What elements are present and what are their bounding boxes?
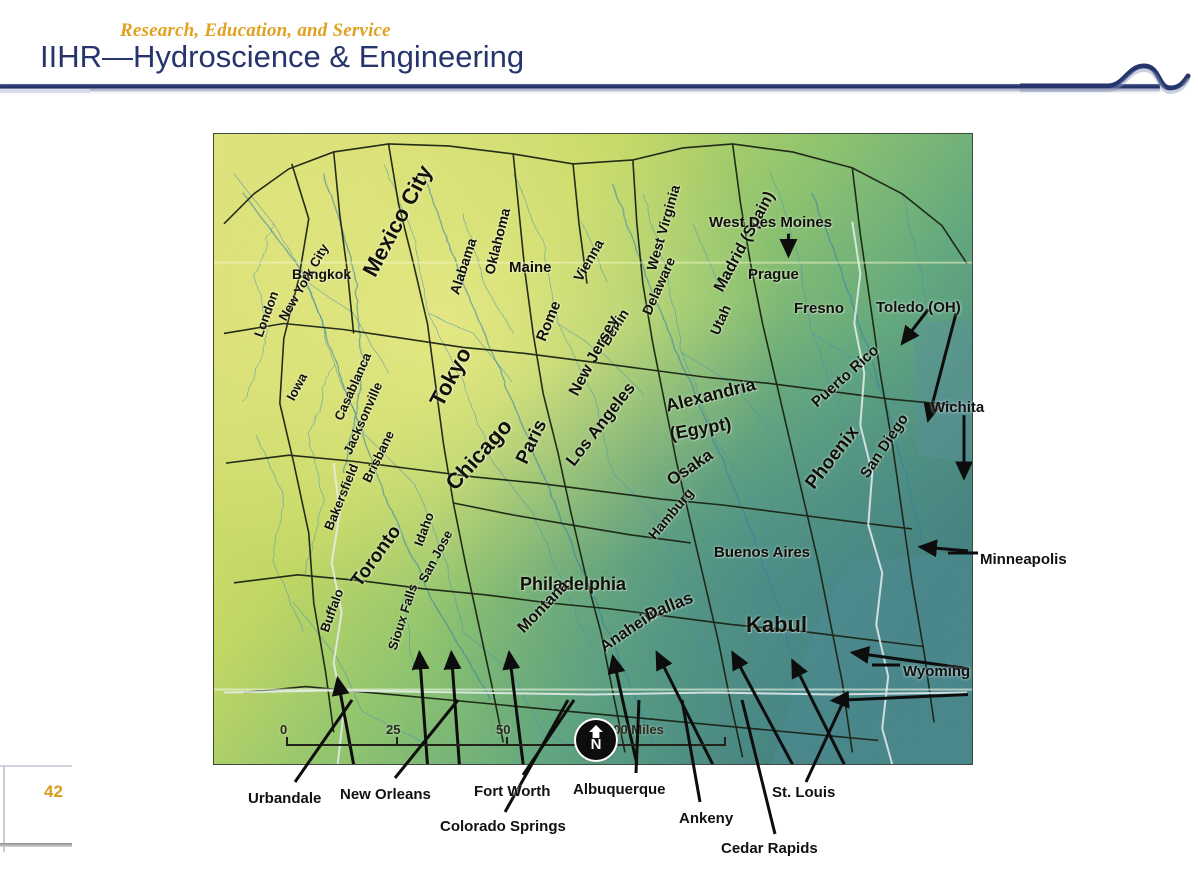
map-callout-label: Cedar Rapids	[721, 840, 818, 857]
scale-tick	[724, 737, 726, 746]
scale-tick	[506, 737, 508, 746]
header-title: IIHR—Hydroscience & Engineering	[40, 39, 524, 75]
map-callout-label: Urbandale	[248, 790, 321, 807]
header-left-tick	[0, 89, 90, 93]
page-number: 42	[44, 782, 63, 802]
watershed-map-figure: BangkokMexico CityLondonNew York CityIow…	[213, 133, 973, 765]
scale-label-50: 50	[496, 722, 510, 737]
compass-north-letter: N	[576, 737, 616, 752]
footer-divider-top	[0, 765, 72, 767]
footer-vertical-rule	[3, 765, 5, 852]
north-arrow-icon: N	[576, 720, 616, 760]
map-callout-label: St. Louis	[772, 784, 835, 801]
header-divider-shadow	[0, 89, 1160, 92]
scale-tick	[286, 737, 288, 746]
header-wave-flourish-icon	[1020, 52, 1198, 102]
map-callout-label: Minneapolis	[980, 551, 1067, 568]
scale-label-25: 25	[386, 722, 400, 737]
callout-arrow-layer	[214, 134, 972, 764]
footer-bottom-rule	[0, 843, 72, 847]
scale-tick	[396, 737, 398, 746]
map-callout-label: Colorado Springs	[440, 818, 566, 835]
map-scale-bar: 0 25 50 100 Miles	[276, 722, 736, 758]
scale-tick	[616, 737, 618, 746]
map-callout-label: Albuquerque	[573, 781, 666, 798]
map-callout-label: Ankeny	[679, 810, 733, 827]
scale-label-0: 0	[280, 722, 287, 737]
map-callout-label: Fort Worth	[474, 783, 550, 800]
map-callout-label: New Orleans	[340, 786, 431, 803]
slide-header: Research, Education, and Service IIHR—Hy…	[0, 0, 1198, 96]
